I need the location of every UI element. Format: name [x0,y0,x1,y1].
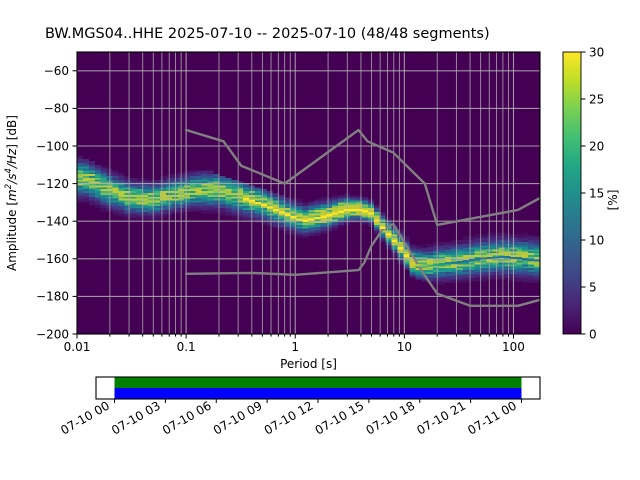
x-tick-label: 10 [397,340,412,354]
colorbar-label: [%] [606,190,620,211]
colorbar-label-group: [%] [606,190,620,211]
plot-title: BW.MGS04..HHE 2025-07-10 -- 2025-07-10 (… [45,26,490,42]
figure-canvas: BW.MGS04..HHE 2025-07-10 -- 2025-07-10 (… [0,0,640,480]
y-tick-label: −100 [36,139,69,153]
x-tick-label: 0.1 [177,340,196,354]
colorbar-tick-label: 0 [589,327,597,341]
y-tick-label: −180 [36,290,69,304]
colorbar-tick-label: 25 [589,92,604,106]
y-tick-label: −60 [44,64,69,78]
psd-segments-band [115,377,522,388]
colorbar-gradient [563,52,581,334]
y-tick-label: −120 [36,177,69,191]
colorbar-tick-label: 20 [589,139,604,153]
x-tick-label: 100 [502,340,525,354]
x-tick-label: 1 [291,340,299,354]
x-axis-label: Period [s] [280,357,337,371]
y-tick-label: −160 [36,252,69,266]
data-availability-band [115,388,522,399]
colorbar-tick-label: 30 [589,45,604,59]
x-tick-label: 0.01 [64,340,91,354]
y-axis-label-group: Amplitude [m2/s4/Hz] [dB] [4,115,19,271]
y-axis-label: Amplitude [m2/s4/Hz] [dB] [4,115,19,271]
y-tick-label: −140 [36,215,69,229]
y-tick-label: −80 [44,102,69,116]
colorbar-tick-label: 10 [589,233,604,247]
timeline-coverage-bands [115,377,522,399]
ppsd-figure: BW.MGS04..HHE 2025-07-10 -- 2025-07-10 (… [0,0,640,480]
colorbar-tick-label: 5 [589,280,597,294]
main-axes: 0.010.1110100 −60−80−100−120−140−160−180… [4,52,540,371]
y-tick-label: −200 [36,327,69,341]
colorbar-tick-label: 15 [589,186,604,200]
